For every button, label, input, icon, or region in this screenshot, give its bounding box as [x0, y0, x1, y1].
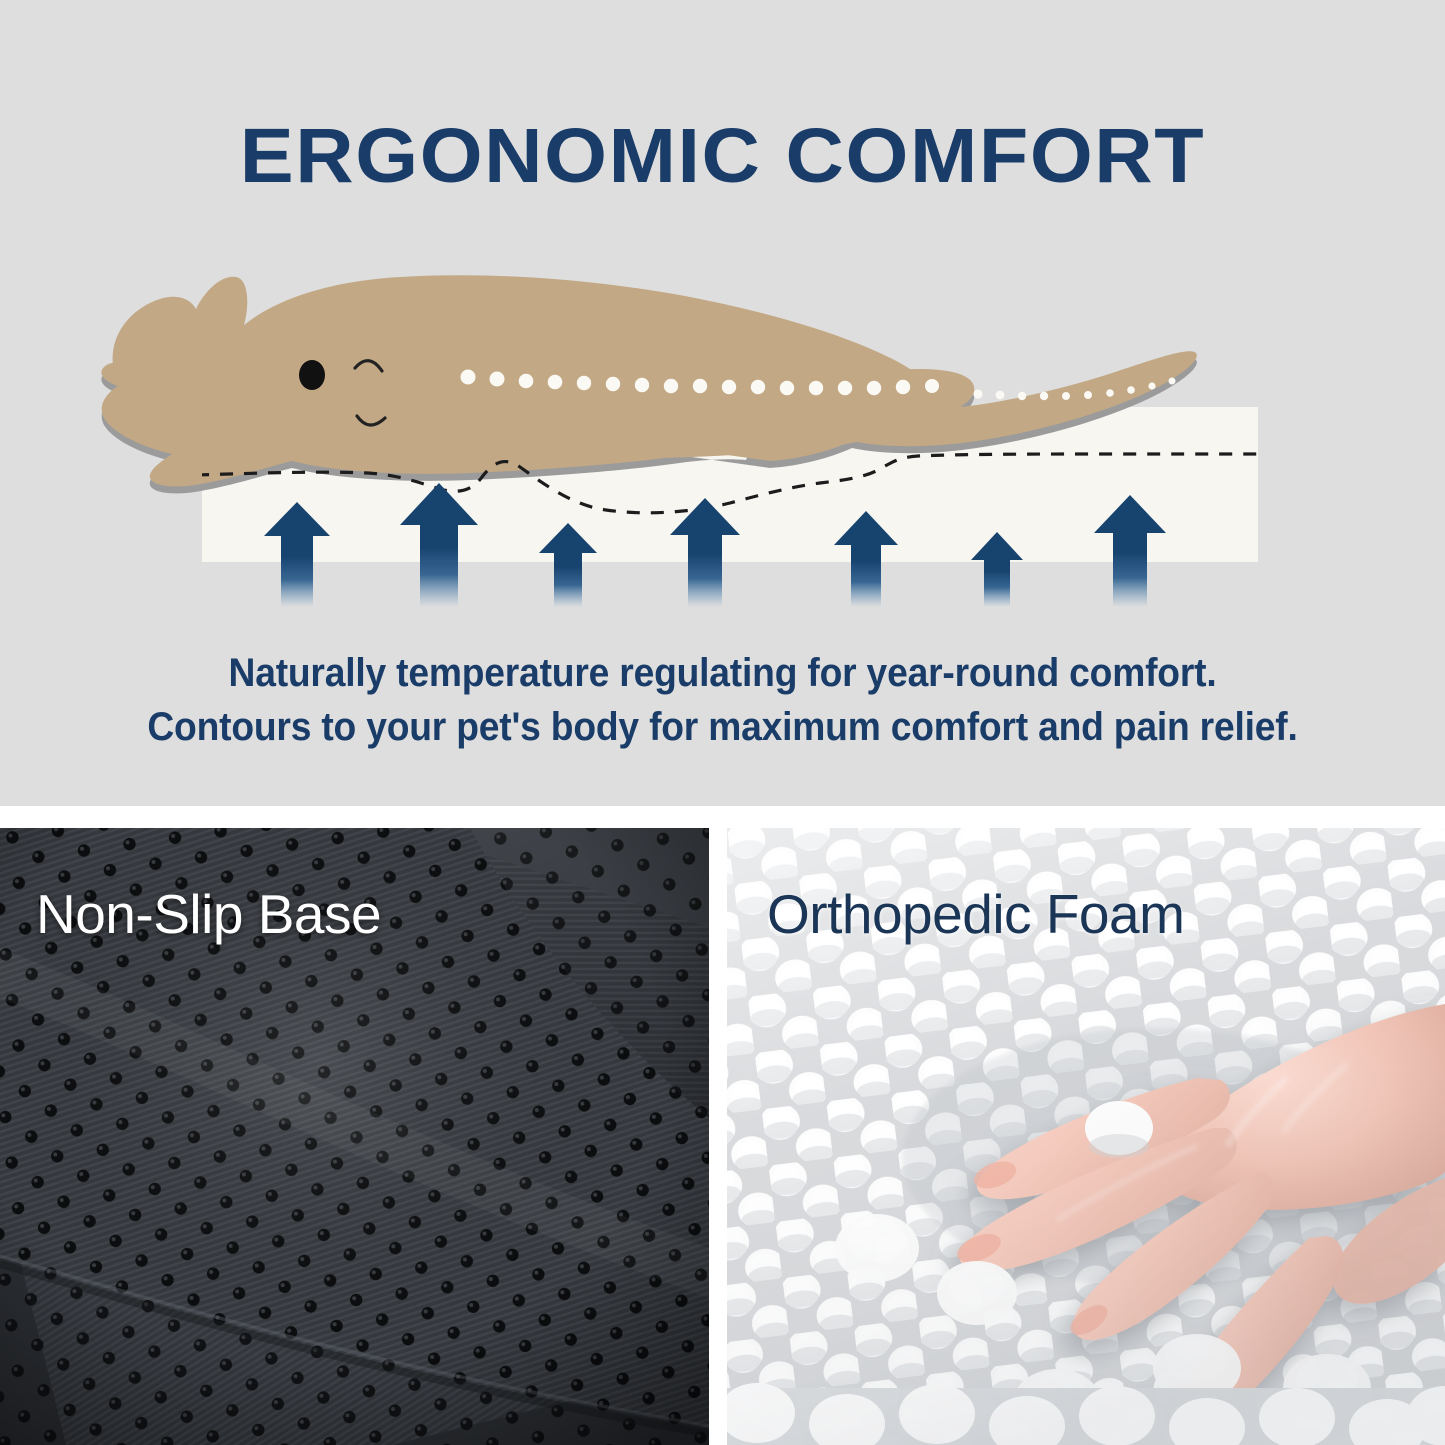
ergonomic-diagram — [0, 255, 1445, 625]
caption-line-2: Contours to your pet's body for maximum … — [51, 700, 1395, 754]
panel-label-non-slip-base: Non-Slip Base — [36, 882, 381, 946]
page-title: ERGONOMIC COMFORT — [0, 112, 1445, 201]
caption-line-1: Naturally temperature regulating for yea… — [51, 646, 1395, 700]
panel-non-slip-base: Non-Slip Base — [0, 828, 709, 1445]
panel-orthopedic-foam: Orthopedic Foam — [727, 828, 1445, 1445]
dog-nose-icon — [299, 360, 325, 390]
panel-label-orthopedic-foam: Orthopedic Foam — [767, 882, 1184, 946]
ergonomic-comfort-section: ERGONOMIC COMFORT — [0, 0, 1445, 806]
feature-panels-row: Non-Slip Base — [0, 828, 1445, 1445]
dog-on-foam-mat-illustration — [0, 255, 1445, 625]
caption-block: Naturally temperature regulating for yea… — [0, 646, 1445, 754]
